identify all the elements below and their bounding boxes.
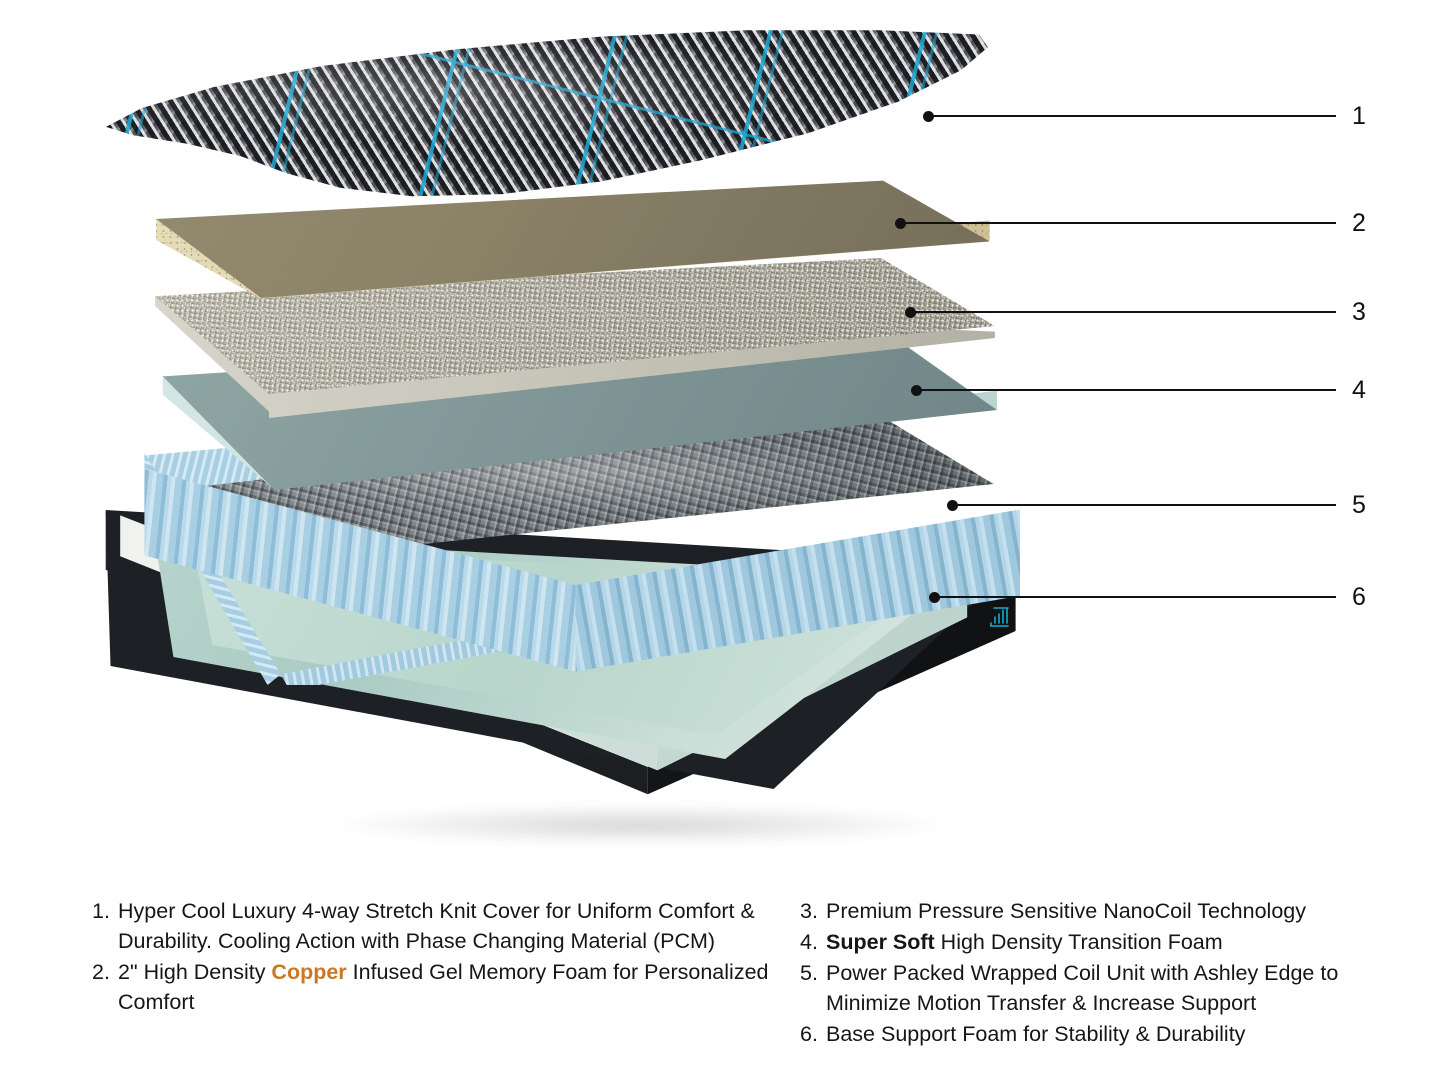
legend-item-text: Hyper Cool Luxury 4-way Stretch Knit Cov… — [118, 896, 782, 956]
legend-text-segment: Hyper Cool Luxury 4-way Stretch Knit Cov… — [118, 899, 755, 953]
legend-item-number: 2. — [92, 957, 118, 987]
legend-text-segment: Power Packed Wrapped Coil Unit with Ashl… — [826, 961, 1338, 1015]
callout-line-5 — [952, 504, 1336, 506]
legend: 1.Hyper Cool Luxury 4-way Stretch Knit C… — [0, 896, 1445, 1066]
callout-line-6 — [934, 596, 1336, 598]
legend-text-segment: High Density Transition Foam — [935, 930, 1223, 954]
callout-dot-4 — [911, 385, 922, 396]
legend-item: 4.Super Soft High Density Transition Foa… — [800, 927, 1380, 957]
legend-item-number: 4. — [800, 927, 826, 957]
legend-item: 6.Base Support Foam for Stability & Dura… — [800, 1019, 1380, 1049]
legend-item: 2.2" High Density Copper Infused Gel Mem… — [92, 957, 782, 1017]
legend-text-segment: Base Support Foam for Stability & Durabi… — [826, 1022, 1245, 1046]
callout-dot-2 — [895, 218, 906, 229]
legend-text-segment: Premium Pressure Sensitive NanoCoil Tech… — [826, 899, 1306, 923]
legend-item-text: Super Soft High Density Transition Foam — [826, 927, 1380, 957]
callout-number-2: 2 — [1352, 209, 1366, 238]
callout-number-1: 1 — [1352, 102, 1366, 131]
legend-item-text: Power Packed Wrapped Coil Unit with Ashl… — [826, 958, 1380, 1018]
knit-cover-fabric — [88, 24, 988, 234]
legend-item-number: 1. — [92, 896, 118, 926]
callout-dot-5 — [947, 500, 958, 511]
mattress-exploded-diagram: 1 2 3 4 5 6 1.Hyper Cool Luxury 4-way St… — [0, 0, 1445, 1084]
legend-highlight-bold: Super Soft — [826, 930, 935, 954]
callout-dot-3 — [905, 307, 916, 318]
legend-column-right: 3.Premium Pressure Sensitive NanoCoil Te… — [800, 896, 1380, 1050]
callout-dot-1 — [923, 111, 934, 122]
legend-item-text: 2" High Density Copper Infused Gel Memor… — [118, 957, 782, 1017]
legend-item-text: Base Support Foam for Stability & Durabi… — [826, 1019, 1380, 1049]
legend-item: 3.Premium Pressure Sensitive NanoCoil Te… — [800, 896, 1380, 926]
layer-knit-cover — [88, 24, 988, 234]
legend-item: 1.Hyper Cool Luxury 4-way Stretch Knit C… — [92, 896, 782, 956]
legend-item-number: 5. — [800, 958, 826, 988]
callout-line-4 — [916, 389, 1336, 391]
legend-item-text: Premium Pressure Sensitive NanoCoil Tech… — [826, 896, 1380, 926]
callout-number-3: 3 — [1352, 298, 1366, 327]
callout-line-3 — [910, 311, 1336, 313]
callout-line-1 — [928, 115, 1336, 117]
callout-number-6: 6 — [1352, 583, 1366, 612]
legend-item-number: 3. — [800, 896, 826, 926]
callout-number-5: 5 — [1352, 491, 1366, 520]
legend-item-number: 6. — [800, 1019, 826, 1049]
callout-line-2 — [900, 222, 1336, 224]
callout-dot-6 — [929, 592, 940, 603]
legend-column-left: 1.Hyper Cool Luxury 4-way Stretch Knit C… — [92, 896, 782, 1018]
callout-number-4: 4 — [1352, 376, 1366, 405]
legend-item: 5.Power Packed Wrapped Coil Unit with As… — [800, 958, 1380, 1018]
legend-text-segment: 2" High Density — [118, 960, 271, 984]
legend-highlight-copper: Copper — [271, 960, 346, 984]
